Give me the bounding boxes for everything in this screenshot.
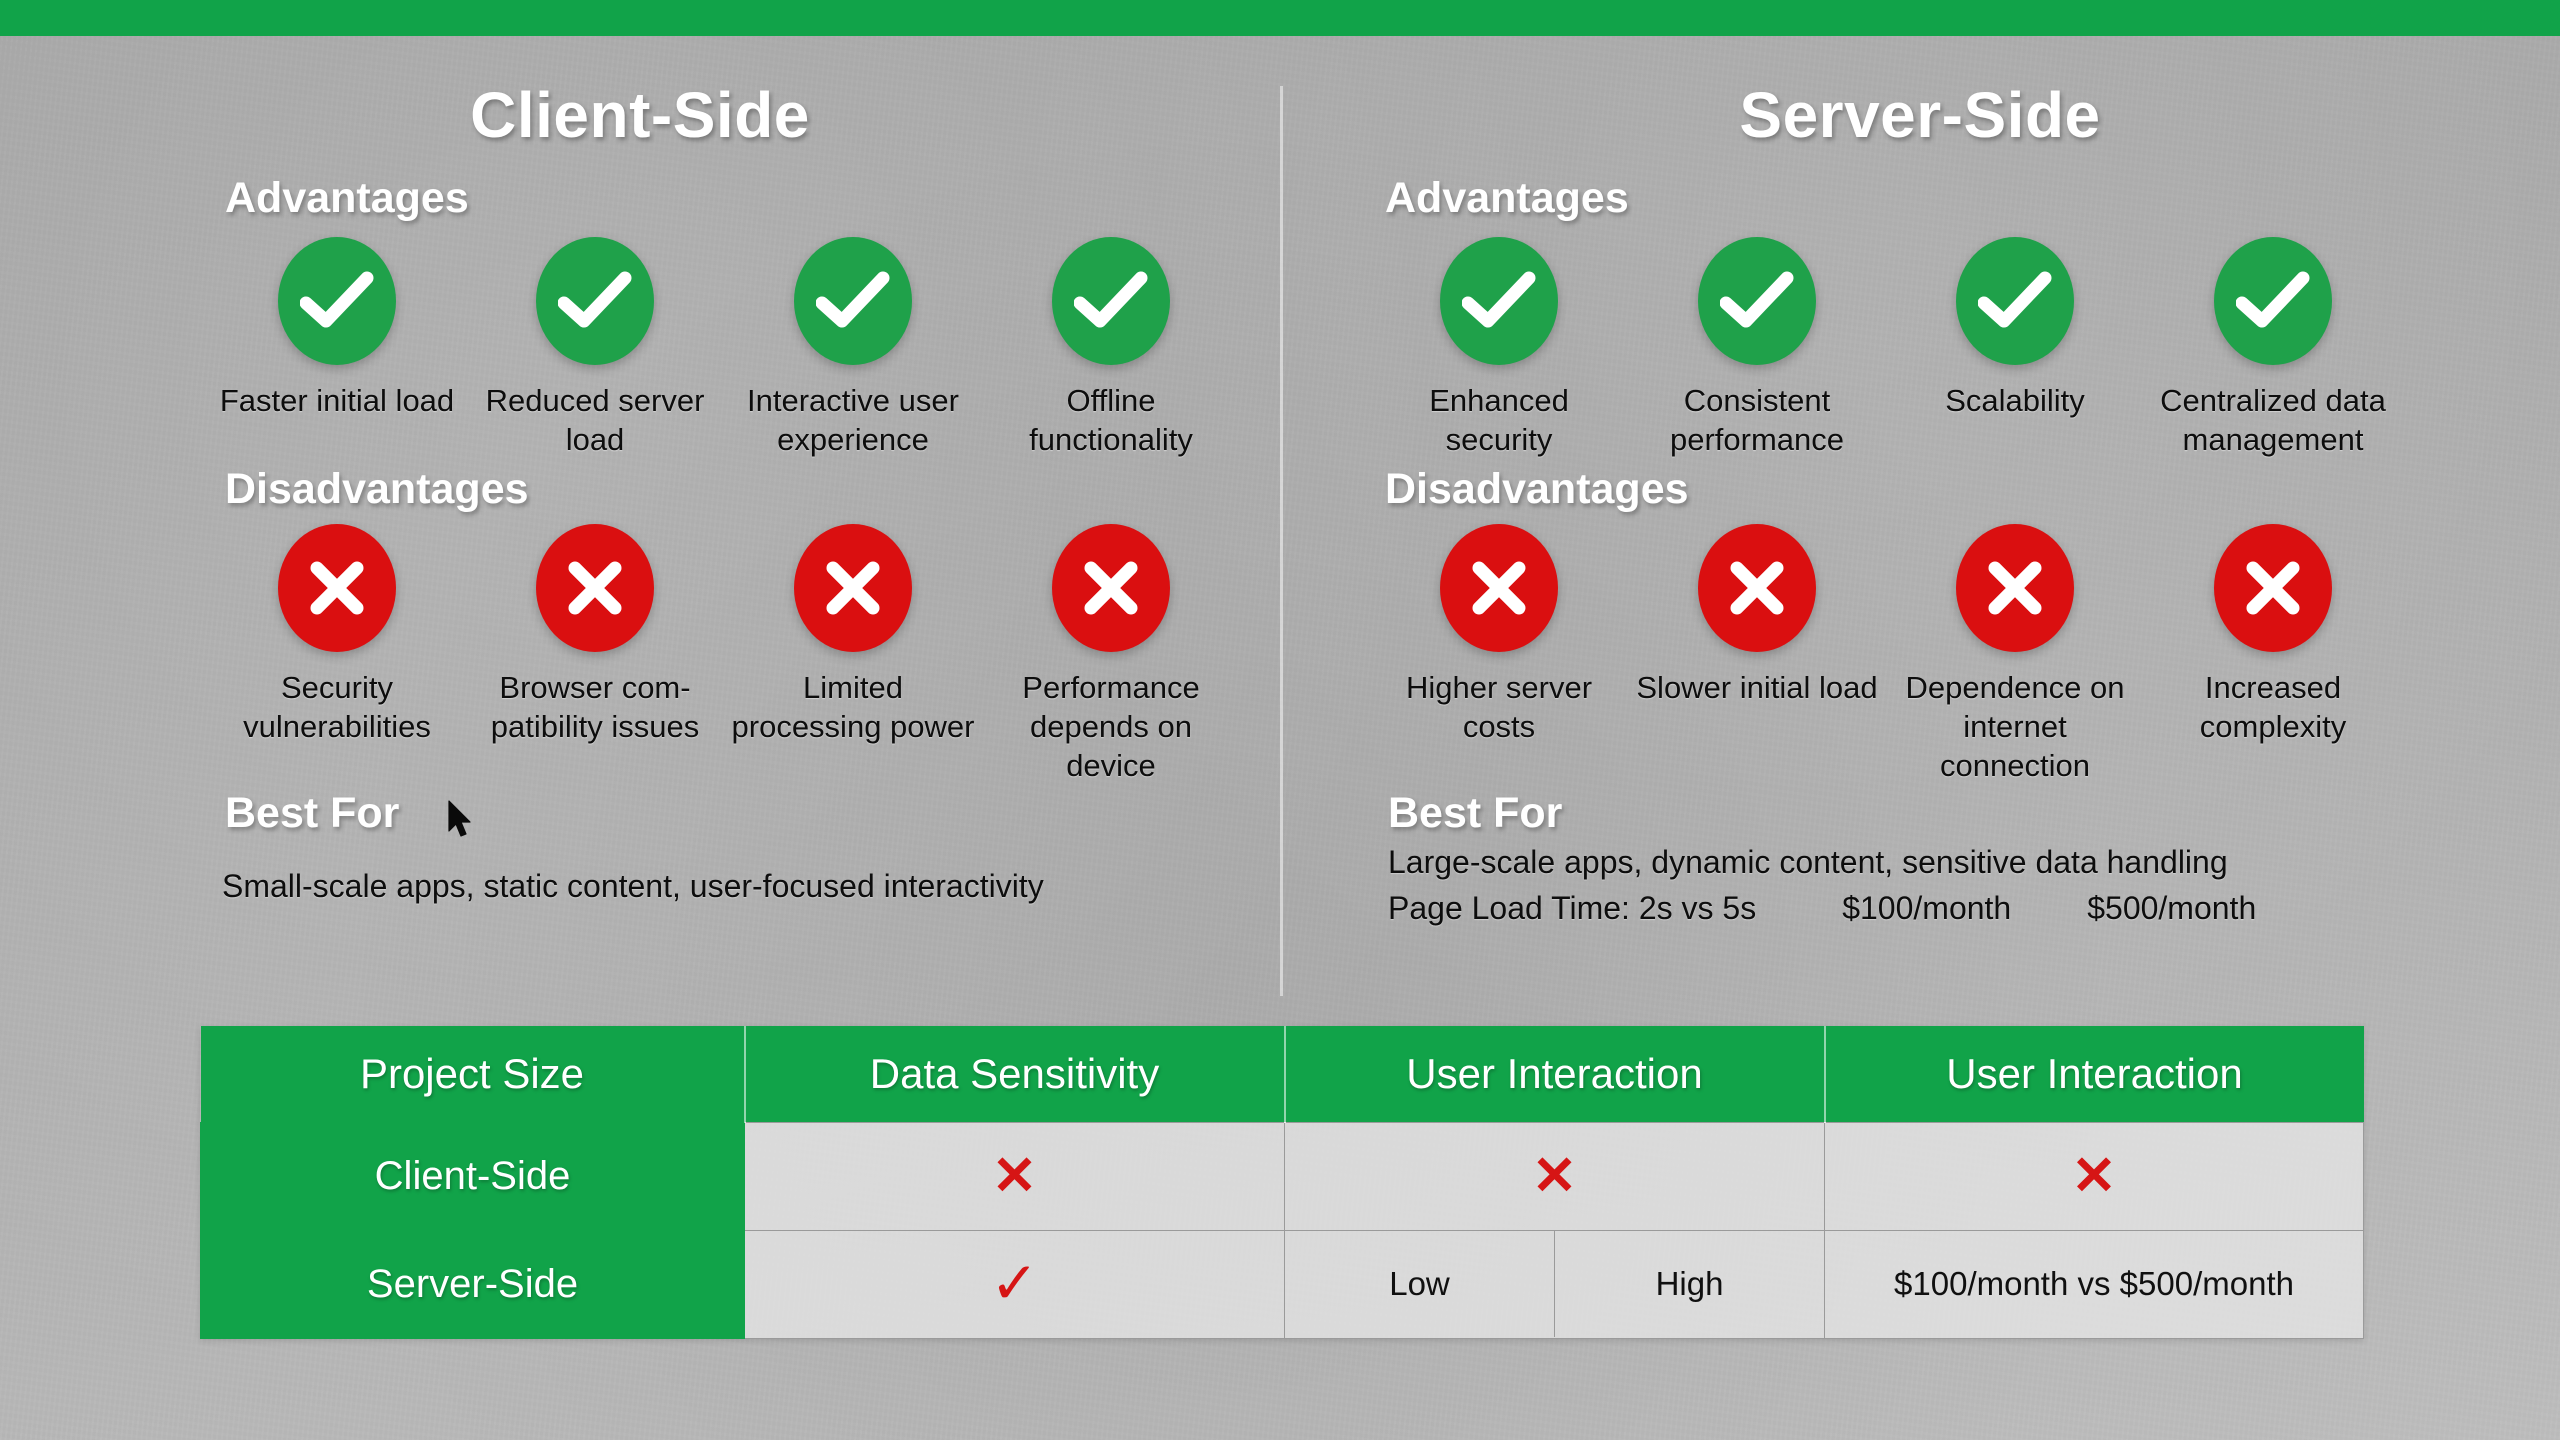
check-icon [278, 237, 396, 365]
cross-icon [1698, 524, 1816, 652]
server-advantage-item: Scalability [1886, 237, 2144, 420]
server-advantages-heading: Advantages [1385, 174, 2560, 223]
metric-spacer [1756, 890, 1842, 927]
cell-server-user-interaction-1: Low High [1285, 1230, 1825, 1338]
cross-icon: ✕ [2071, 1149, 2116, 1203]
metric-spacer [2011, 890, 2087, 927]
client-advantage-item: Offline functionality [982, 237, 1240, 459]
cross-icon [1440, 524, 1558, 652]
cross-icon [1956, 524, 2074, 652]
server-advantages-row: Enhanced security Consistent performance… [1280, 237, 2560, 459]
table-header-project-size[interactable]: Project Size [201, 1026, 745, 1122]
client-side-column: Client-Side Advantages Faster initial lo… [0, 36, 1280, 996]
server-disadvantage-label: Higher server costs [1373, 668, 1625, 746]
check-icon [1052, 237, 1170, 365]
client-disadvantage-item: Security vulnerabilities [208, 524, 466, 746]
table-row: Server-Side ✓ Low High $100/month vs $50… [201, 1230, 2364, 1338]
client-advantage-label: Offline functionality [985, 381, 1237, 459]
server-disadvantage-item: Dependence on internet connection [1886, 524, 2144, 785]
cross-icon [278, 524, 396, 652]
server-disadvantages-heading: Disadvantages [1385, 465, 2560, 514]
cell-server-data-sensitivity: ✓ [745, 1230, 1285, 1338]
client-disadvantage-label: Security vulnerabilities [211, 668, 463, 746]
server-advantage-label: Scalability [1945, 381, 2085, 420]
client-disadvantage-label: Limited processing power [727, 668, 979, 746]
client-advantage-label: Interactive user experience [727, 381, 979, 459]
server-disadvantage-item: Higher server costs [1370, 524, 1628, 746]
client-side-title: Client-Side [0, 78, 1280, 152]
client-advantages-heading: Advantages [225, 174, 1280, 223]
client-best-for-text: Small-scale apps, static content, user-f… [222, 866, 1280, 908]
cell-value-high: High [1555, 1231, 1824, 1337]
cell-client-user-interaction-1: ✕ [1285, 1122, 1825, 1230]
top-accent-bar [0, 0, 2560, 36]
server-disadvantage-item: Increased complexity [2144, 524, 2402, 746]
server-disadvantage-label: Increased complexity [2147, 668, 2399, 746]
table-row: Client-Side ✕ ✕ ✕ [201, 1122, 2364, 1230]
comparison-table: Project Size Data Sensitivity User Inter… [200, 1026, 2364, 1339]
server-side-column: Server-Side Advantages Enhanced security… [1280, 36, 2560, 996]
server-disadvantages-row: Higher server costs Slower initial load … [1280, 524, 2560, 785]
check-icon: ✓ [990, 1255, 1039, 1313]
cross-icon [536, 524, 654, 652]
client-advantage-item: Reduced server load [466, 237, 724, 459]
server-advantage-label: Consistent performance [1631, 381, 1883, 459]
client-disadvantage-item: Performance depends on device [982, 524, 1240, 785]
client-advantages-row: Faster initial load Reduced server load … [0, 237, 1280, 459]
table-header-user-interaction-1[interactable]: User Interaction [1285, 1026, 1825, 1122]
server-advantage-item: Consistent performance [1628, 237, 1886, 459]
server-best-for-text: Large-scale apps, dynamic content, sensi… [1388, 842, 2560, 884]
server-disadvantage-label: Dependence on internet connection [1886, 668, 2144, 785]
server-advantage-label: Centralized data management [2147, 381, 2399, 459]
check-icon [1956, 237, 2074, 365]
client-disadvantages-heading: Disadvantages [225, 465, 1280, 514]
server-disadvantage-item: Slower initial load [1628, 524, 1886, 707]
table-header-row: Project Size Data Sensitivity User Inter… [201, 1026, 2364, 1122]
check-icon [1440, 237, 1558, 365]
client-best-for-heading: Best For [225, 789, 1280, 838]
client-disadvantage-label: Performance depends on device [985, 668, 1237, 785]
cross-icon [1052, 524, 1170, 652]
cell-client-data-sensitivity: ✕ [745, 1122, 1285, 1230]
cross-icon [2214, 524, 2332, 652]
page-load-metric: Page Load Time: 2s vs 5s [1388, 890, 1756, 927]
server-disadvantage-label: Slower initial load [1636, 668, 1877, 707]
table-header-data-sensitivity[interactable]: Data Sensitivity [745, 1026, 1285, 1122]
client-advantage-label: Faster initial load [220, 381, 454, 420]
server-side-title: Server-Side [1280, 78, 2560, 152]
client-advantage-item: Interactive user experience [724, 237, 982, 459]
cross-icon: ✕ [1532, 1149, 1577, 1203]
row-label-server-side: Server-Side [201, 1230, 745, 1338]
client-disadvantage-item: Limited processing power [724, 524, 982, 746]
check-icon [2214, 237, 2332, 365]
client-advantage-label: Reduced server load [469, 381, 721, 459]
client-disadvantage-item: Browser com-patibility issues [466, 524, 724, 746]
cell-server-user-interaction-2: $100/month vs $500/month [1825, 1230, 2364, 1338]
server-advantage-label: Enhanced security [1373, 381, 1625, 459]
server-advantage-item: Enhanced security [1370, 237, 1628, 459]
row-label-client-side: Client-Side [201, 1122, 745, 1230]
client-cost-metric: $100/month [1842, 890, 2011, 927]
cross-icon [794, 524, 912, 652]
server-cost-metric: $500/month [2087, 890, 2256, 927]
cross-icon: ✕ [992, 1149, 1037, 1203]
server-metrics-row: Page Load Time: 2s vs 5s $100/month $500… [1388, 890, 2560, 927]
server-best-for-heading: Best For [1388, 789, 2560, 838]
client-advantage-item: Faster initial load [208, 237, 466, 420]
check-icon [794, 237, 912, 365]
cell-value-low: Low [1285, 1231, 1555, 1337]
client-disadvantage-label: Browser com-patibility issues [469, 668, 721, 746]
client-disadvantages-row: Security vulnerabilities Browser com-pat… [0, 524, 1280, 785]
server-advantage-item: Centralized data management [2144, 237, 2402, 459]
cell-client-user-interaction-2: ✕ [1825, 1122, 2364, 1230]
table-header-user-interaction-2[interactable]: User Interaction [1825, 1026, 2364, 1122]
check-icon [536, 237, 654, 365]
check-icon [1698, 237, 1816, 365]
